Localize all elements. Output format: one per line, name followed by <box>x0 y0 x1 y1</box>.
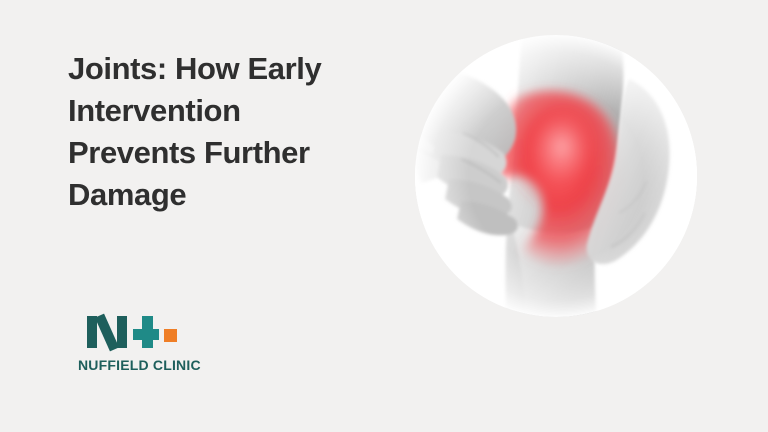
logo-wordmark: NUFFIELD CLINIC <box>78 357 218 373</box>
brand-logo[interactable]: NUFFIELD CLINIC <box>78 314 218 373</box>
headline-line-4: Damage <box>68 174 388 216</box>
medical-cross-icon <box>133 316 159 348</box>
logo-mark <box>78 314 178 348</box>
logo-letter-n-icon <box>87 316 127 348</box>
logo-n-right-stroke <box>117 316 127 348</box>
headline-line-3: Prevents Further <box>68 132 388 174</box>
knee-pain-photo <box>415 35 697 317</box>
page-title: Joints: How Early Intervention Prevents … <box>68 48 388 216</box>
knee-illustration-icon <box>415 35 697 317</box>
headline-line-2: Intervention <box>68 90 388 132</box>
logo-accent-square-icon <box>164 329 177 342</box>
headline-line-1: Joints: How Early <box>68 48 388 90</box>
cross-horizontal-bar <box>133 329 159 340</box>
promo-banner: Joints: How Early Intervention Prevents … <box>0 0 768 432</box>
logo-n-diagonal-stroke <box>95 314 119 352</box>
